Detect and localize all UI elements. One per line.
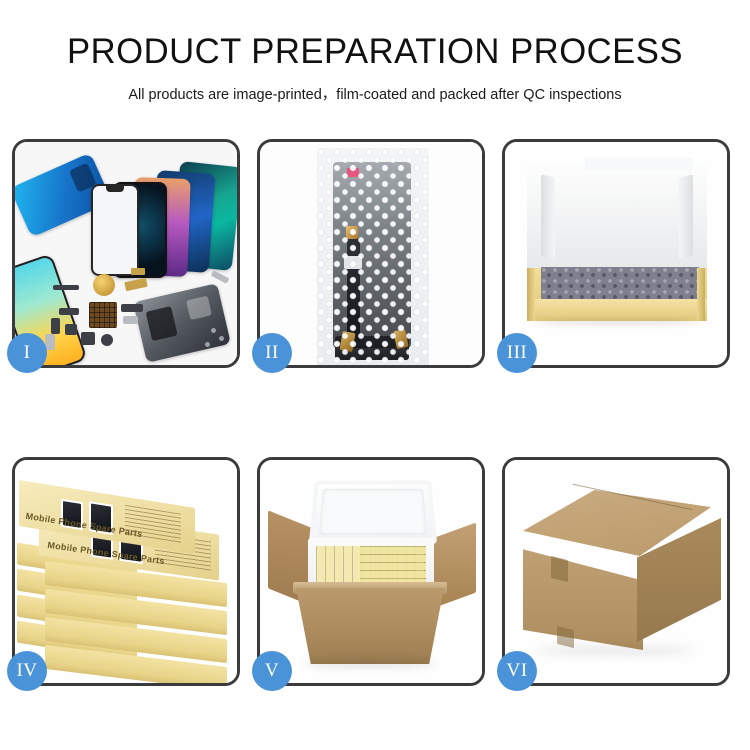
carton-scene xyxy=(260,460,482,683)
kraft-box-left-edge xyxy=(527,268,535,321)
step-badge-1: I xyxy=(7,333,47,373)
kraft-box-front-face xyxy=(527,299,707,321)
lid-tab xyxy=(585,158,693,171)
step-badge-2: II xyxy=(252,333,292,373)
process-step-panel-6[interactable]: VI xyxy=(502,457,730,686)
page-header: PRODUCT PREPARATION PROCESS All products… xyxy=(0,0,750,104)
step-badge-3: III xyxy=(497,333,537,373)
panel-6-image xyxy=(505,460,727,683)
white-box-lid xyxy=(527,154,707,270)
screw-icon-1 xyxy=(211,328,216,333)
camera-part-icon xyxy=(101,334,113,346)
phone-parts-scene xyxy=(15,142,237,365)
strip-part-icon xyxy=(53,285,79,290)
tool-part-icon xyxy=(211,270,230,284)
process-step-panel-5[interactable]: V xyxy=(257,457,485,686)
button-part-icon xyxy=(65,324,77,335)
step-badge-6: VI xyxy=(497,651,537,691)
page-subtitle: All products are image-printed，film-coat… xyxy=(0,83,750,104)
foam-container-lid xyxy=(309,481,437,545)
phone-chassis-graphic xyxy=(133,283,231,363)
kraft-box-right-edge xyxy=(697,268,705,321)
box-shadow xyxy=(535,319,699,325)
sealed-carton-left-face xyxy=(523,538,643,650)
process-step-panel-4[interactable]: Mobile Phone Spare Parts Mobile Phone Sp… xyxy=(12,457,240,686)
grey-foam-padding xyxy=(541,267,699,299)
sealed-carton-tab-1 xyxy=(551,556,568,582)
step-badge-4: IV xyxy=(7,651,47,691)
process-step-panel-2[interactable]: II xyxy=(257,139,485,368)
panel-3-image xyxy=(505,142,727,365)
page-title: PRODUCT PREPARATION PROCESS xyxy=(4,34,747,69)
panel-1-image xyxy=(15,142,237,365)
bracket-part-icon xyxy=(51,318,60,334)
panel-2-image xyxy=(260,142,482,365)
box-stack-scene: Mobile Phone Spare Parts Mobile Phone Sp… xyxy=(15,460,237,683)
ribbon-part-icon xyxy=(121,304,143,312)
flex-cable-part-icon xyxy=(124,278,147,291)
chip-grid-part-icon xyxy=(89,302,117,328)
process-step-panel-3[interactable]: III xyxy=(502,139,730,368)
speaker-part-icon xyxy=(81,332,95,345)
bubble-texture-overlay xyxy=(317,148,429,365)
screw-icon-2 xyxy=(219,336,224,341)
lid-right-wing xyxy=(679,175,693,260)
coil-part-icon xyxy=(93,274,115,296)
screw-icon-3 xyxy=(205,342,210,347)
panel-4-image: Mobile Phone Spare Parts Mobile Phone Sp… xyxy=(15,460,237,683)
foam-box-scene xyxy=(505,142,727,365)
sealed-carton-shadow xyxy=(535,646,695,655)
carton-shadow xyxy=(304,660,436,668)
process-step-panel-1[interactable]: I xyxy=(12,139,240,368)
sealed-carton-tab-2 xyxy=(557,626,574,648)
process-step-grid: I II xyxy=(12,139,738,686)
connector-part-icon xyxy=(59,308,79,315)
panel-5-image xyxy=(260,460,482,683)
bubble-wrap-bag xyxy=(317,148,429,365)
carton-body xyxy=(296,588,444,664)
white-frame-phone-graphic xyxy=(91,184,139,276)
bubble-wrap-scene xyxy=(260,142,482,365)
shield-part-icon xyxy=(123,316,138,324)
step-badge-5: V xyxy=(252,651,292,691)
flex-cable-small-icon xyxy=(131,268,145,275)
lid-left-wing xyxy=(541,175,555,260)
sealed-carton-scene xyxy=(505,460,727,683)
